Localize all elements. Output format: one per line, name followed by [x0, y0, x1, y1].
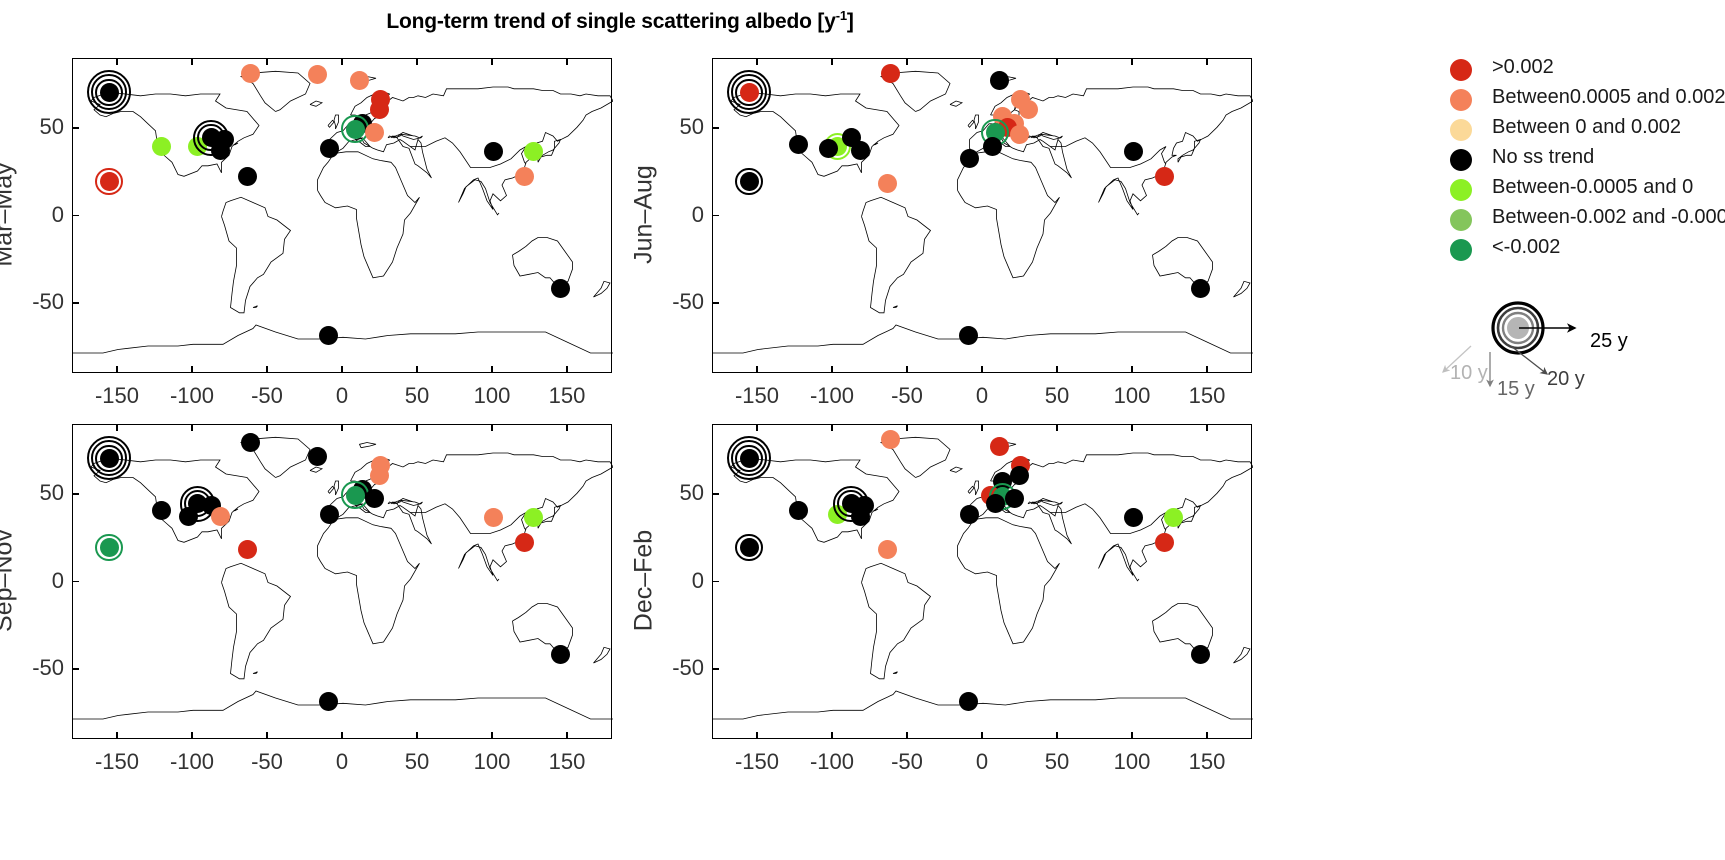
x-tick-mark-top: [266, 58, 268, 65]
x-tick-label: 0: [302, 383, 382, 409]
plot-area-dec-feb: [712, 424, 1252, 739]
data-point: [346, 120, 365, 139]
x-tick-mark: [1131, 732, 1133, 739]
y-tick-mark: [712, 127, 719, 129]
plot-area-mar-may: [72, 58, 612, 373]
data-point: [515, 167, 534, 186]
size-legend-label-15y: 15 y: [1497, 378, 1535, 401]
coastline-map: [713, 59, 1253, 374]
x-tick-mark-top: [1056, 58, 1058, 65]
data-point: [851, 141, 870, 160]
x-tick-mark: [831, 732, 833, 739]
x-tick-mark-top: [191, 424, 193, 431]
data-point: [211, 507, 230, 526]
data-point: [551, 645, 570, 664]
data-point: [320, 139, 339, 158]
x-tick-label: -50: [227, 383, 307, 409]
data-point: [851, 507, 870, 526]
size-legend: 25 y 20 y 15 y 10 y: [1455, 300, 1715, 410]
legend-swatch: [1450, 59, 1472, 81]
data-point: [740, 172, 759, 191]
x-tick-mark: [981, 366, 983, 373]
coastline-map: [73, 59, 613, 374]
y-tick-label: -50: [8, 289, 64, 315]
x-tick-mark-top: [831, 58, 833, 65]
x-tick-label: -50: [867, 383, 947, 409]
data-point: [320, 505, 339, 524]
size-legend-label-20y: 20 y: [1547, 368, 1585, 391]
data-point: [238, 540, 257, 559]
x-tick-mark: [566, 732, 568, 739]
x-tick-mark-top: [1131, 58, 1133, 65]
data-point: [990, 71, 1009, 90]
data-point: [740, 449, 759, 468]
x-tick-mark: [1131, 366, 1133, 373]
data-point: [100, 172, 119, 191]
y-tick-mark: [712, 215, 719, 217]
y-tick-mark: [712, 668, 719, 670]
data-point: [365, 489, 384, 508]
legend-label: Between 0 and 0.002: [1492, 116, 1681, 139]
coastline-map: [713, 425, 1253, 740]
data-point: [238, 167, 257, 186]
x-tick-label: 50: [377, 749, 457, 775]
data-point: [515, 533, 534, 552]
x-tick-mark: [266, 732, 268, 739]
data-point: [1005, 489, 1024, 508]
x-tick-label: 50: [1017, 383, 1097, 409]
data-point: [365, 123, 384, 142]
x-tick-mark: [756, 732, 758, 739]
x-tick-mark: [116, 732, 118, 739]
y-tick-mark: [712, 493, 719, 495]
y-axis-label-sep-nov: Sep–Nov: [0, 520, 19, 640]
x-tick-mark-top: [981, 58, 983, 65]
x-tick-mark-top: [191, 58, 193, 65]
legend-swatch: [1450, 239, 1472, 261]
x-tick-label: 50: [1017, 749, 1097, 775]
page-title: Long-term trend of single scattering alb…: [0, 8, 1240, 34]
data-point: [551, 279, 570, 298]
legend-label: <-0.002: [1492, 236, 1560, 259]
data-point: [878, 540, 897, 559]
x-tick-mark-top: [416, 58, 418, 65]
data-point: [881, 64, 900, 83]
x-tick-mark-top: [341, 58, 343, 65]
y-axis-label-jun-aug: Jun–Aug: [630, 154, 659, 274]
data-point: [241, 433, 260, 452]
x-tick-mark: [416, 366, 418, 373]
data-point: [100, 538, 119, 557]
data-point: [819, 139, 838, 158]
x-tick-mark: [906, 732, 908, 739]
x-tick-label: 0: [942, 749, 1022, 775]
data-point: [878, 174, 897, 193]
data-point: [484, 142, 503, 161]
x-tick-label: -150: [717, 383, 797, 409]
x-tick-mark: [1056, 366, 1058, 373]
y-tick-mark: [72, 302, 79, 304]
data-point: [1124, 508, 1143, 527]
x-tick-mark-top: [1131, 424, 1133, 431]
data-point: [100, 449, 119, 468]
size-legend-label-25y: 25 y: [1590, 330, 1628, 353]
x-tick-label: 100: [1092, 383, 1172, 409]
x-tick-mark: [831, 366, 833, 373]
y-tick-label: -50: [648, 655, 704, 681]
x-tick-mark: [341, 366, 343, 373]
x-tick-label: -100: [792, 383, 872, 409]
data-point: [983, 137, 1002, 156]
data-point: [1010, 125, 1029, 144]
x-tick-mark: [491, 366, 493, 373]
x-tick-mark-top: [1206, 58, 1208, 65]
x-tick-mark-top: [831, 424, 833, 431]
x-tick-label: -50: [227, 749, 307, 775]
data-point: [152, 137, 171, 156]
x-tick-label: -150: [77, 383, 157, 409]
x-tick-mark-top: [906, 424, 908, 431]
y-tick-mark: [72, 581, 79, 583]
data-point: [1191, 645, 1210, 664]
size-legend-label-10y: 10 y: [1450, 362, 1488, 385]
x-tick-label: 150: [1167, 749, 1247, 775]
size-legend-arrows: [1435, 290, 1675, 420]
y-axis-label-dec-feb: Dec–Feb: [630, 520, 659, 640]
x-tick-mark-top: [566, 58, 568, 65]
x-tick-mark-top: [1056, 424, 1058, 431]
x-tick-mark-top: [491, 424, 493, 431]
plot-area-sep-nov: [72, 424, 612, 739]
data-point: [211, 141, 230, 160]
plot-area-jun-aug: [712, 58, 1252, 373]
data-point: [986, 494, 1005, 513]
y-tick-mark: [712, 581, 719, 583]
x-tick-mark: [116, 366, 118, 373]
data-point: [1155, 533, 1174, 552]
x-tick-mark-top: [491, 58, 493, 65]
x-tick-mark-top: [566, 424, 568, 431]
x-tick-mark: [1206, 366, 1208, 373]
x-tick-mark-top: [416, 424, 418, 431]
data-point: [740, 538, 759, 557]
x-tick-label: 150: [527, 383, 607, 409]
y-tick-label: 50: [8, 480, 64, 506]
x-tick-mark: [191, 732, 193, 739]
data-point: [740, 83, 759, 102]
legend-label: Between-0.002 and -0.0005: [1492, 206, 1725, 229]
x-tick-mark: [566, 366, 568, 373]
x-tick-mark-top: [1206, 424, 1208, 431]
data-point: [346, 486, 365, 505]
x-tick-label: 0: [302, 749, 382, 775]
y-tick-mark: [72, 215, 79, 217]
data-point: [959, 692, 978, 711]
legend-swatch: [1450, 209, 1472, 231]
coastline-map: [73, 425, 613, 740]
legend-label: Between0.0005 and 0.002: [1492, 86, 1725, 109]
x-tick-label: -150: [717, 749, 797, 775]
data-point: [990, 437, 1009, 456]
data-point: [350, 71, 369, 90]
x-tick-label: -150: [77, 749, 157, 775]
x-tick-mark-top: [756, 424, 758, 431]
x-tick-mark: [491, 732, 493, 739]
legend-swatch: [1450, 149, 1472, 171]
data-point: [319, 326, 338, 345]
y-tick-label: 50: [8, 114, 64, 140]
x-tick-mark: [1206, 732, 1208, 739]
data-point: [100, 83, 119, 102]
y-tick-label: 50: [648, 114, 704, 140]
legend-label: >0.002: [1492, 56, 1554, 79]
data-point: [1155, 167, 1174, 186]
x-tick-mark-top: [756, 58, 758, 65]
data-point: [959, 326, 978, 345]
x-tick-mark-top: [116, 424, 118, 431]
x-tick-label: 100: [1092, 749, 1172, 775]
y-tick-label: -50: [648, 289, 704, 315]
data-point: [319, 692, 338, 711]
x-tick-label: 100: [452, 383, 532, 409]
x-tick-mark-top: [116, 58, 118, 65]
y-axis-label-mar-may: Mar–May: [0, 154, 19, 274]
data-point: [179, 507, 198, 526]
x-tick-mark: [191, 366, 193, 373]
x-tick-label: 50: [377, 383, 457, 409]
x-tick-label: 0: [942, 383, 1022, 409]
y-tick-label: 50: [648, 480, 704, 506]
x-tick-mark: [981, 732, 983, 739]
x-tick-label: -100: [152, 749, 232, 775]
y-tick-mark: [72, 127, 79, 129]
x-tick-label: -50: [867, 749, 947, 775]
data-point: [241, 64, 260, 83]
x-tick-mark: [266, 366, 268, 373]
data-point: [484, 508, 503, 527]
x-tick-mark-top: [341, 424, 343, 431]
x-tick-mark-top: [981, 424, 983, 431]
x-tick-label: -100: [152, 383, 232, 409]
data-point: [881, 430, 900, 449]
legend-swatch: [1450, 119, 1472, 141]
x-tick-mark-top: [266, 424, 268, 431]
x-tick-label: 100: [452, 749, 532, 775]
y-tick-label: -50: [8, 655, 64, 681]
x-tick-label: 150: [1167, 383, 1247, 409]
x-tick-label: -100: [792, 749, 872, 775]
y-tick-mark: [712, 302, 719, 304]
data-point: [1010, 466, 1029, 485]
legend-label: No ss trend: [1492, 146, 1594, 169]
legend-swatch: [1450, 179, 1472, 201]
data-point: [1191, 279, 1210, 298]
y-tick-mark: [72, 493, 79, 495]
legend-label: Between-0.0005 and 0: [1492, 176, 1693, 199]
x-tick-label: 150: [527, 749, 607, 775]
data-point: [1124, 142, 1143, 161]
x-tick-mark: [416, 732, 418, 739]
x-tick-mark: [1056, 732, 1058, 739]
data-point: [370, 100, 389, 119]
x-tick-mark: [906, 366, 908, 373]
x-tick-mark: [756, 366, 758, 373]
data-point: [960, 505, 979, 524]
data-point: [370, 466, 389, 485]
data-point: [308, 447, 327, 466]
x-tick-mark: [341, 732, 343, 739]
legend-swatch: [1450, 89, 1472, 111]
x-tick-mark-top: [906, 58, 908, 65]
y-tick-mark: [72, 668, 79, 670]
